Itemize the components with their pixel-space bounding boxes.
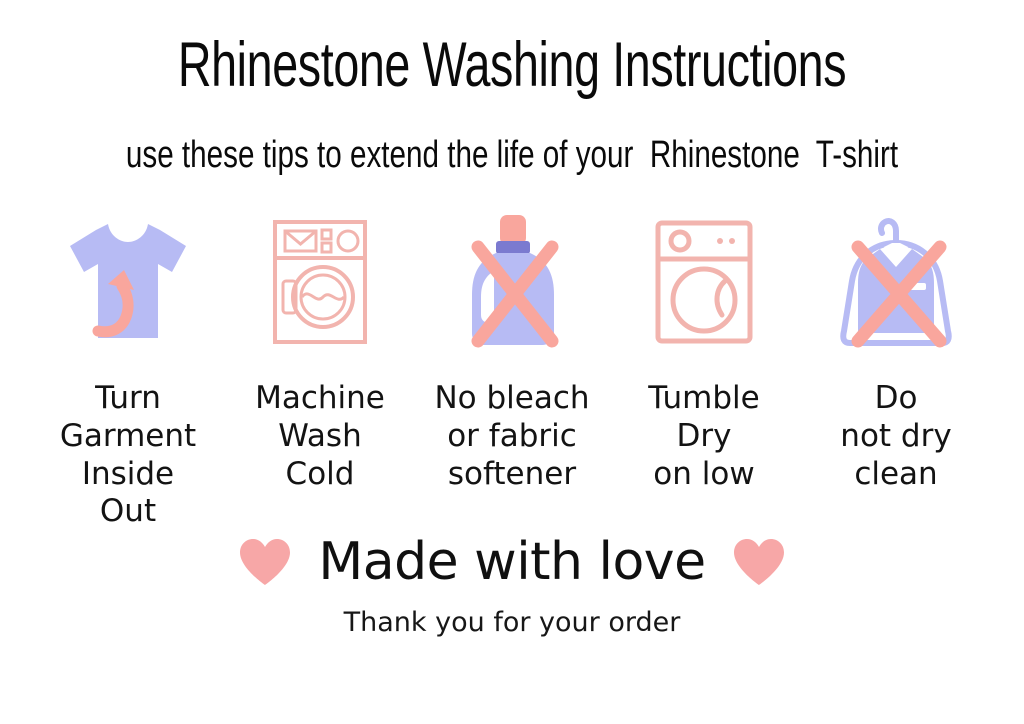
instruction-card: Rhinestone Washing Instructions use thes… xyxy=(0,0,1024,724)
no-dry-clean-icon xyxy=(836,206,956,358)
tshirt-inside-out-icon xyxy=(66,206,190,358)
step-label: No bleach or fabric softener xyxy=(434,380,589,493)
page-subtitle: use these tips to extend the life of you… xyxy=(113,136,912,174)
made-with-love-row: Made with love xyxy=(0,536,1024,588)
step-tumble-dry-low: Tumble Dry on low xyxy=(608,206,800,493)
step-label: Do not dry clean xyxy=(840,380,951,493)
step-turn-inside-out: Turn Garment Inside Out xyxy=(32,206,224,531)
steps-row: Turn Garment Inside Out M xyxy=(32,206,992,531)
step-label: Machine Wash Cold xyxy=(255,380,385,493)
thank-you-text: Thank you for your order xyxy=(0,609,1024,636)
tumble-dryer-icon xyxy=(654,206,754,358)
step-label: Tumble Dry on low xyxy=(648,380,759,493)
step-no-bleach: No bleach or fabric softener xyxy=(416,206,608,493)
heart-icon xyxy=(238,537,292,587)
heart-icon xyxy=(732,537,786,587)
step-machine-wash-cold: Machine Wash Cold xyxy=(224,206,416,493)
step-no-dry-clean: Do not dry clean xyxy=(800,206,992,493)
step-label: Turn Garment Inside Out xyxy=(60,380,196,531)
no-bleach-bottle-icon xyxy=(456,206,568,358)
page-title: Rhinestone Washing Instructions xyxy=(133,34,891,97)
made-with-love-text: Made with love xyxy=(318,536,705,588)
washing-machine-icon xyxy=(272,206,368,358)
